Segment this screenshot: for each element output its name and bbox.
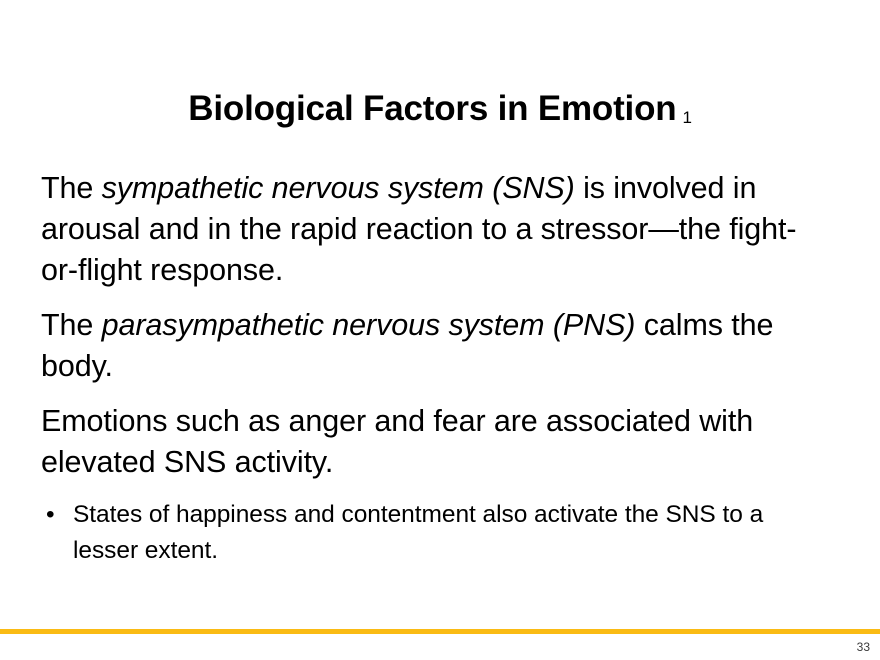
- footer-divider: [0, 629, 880, 634]
- paragraph-pns-lead: The: [41, 308, 102, 342]
- paragraph-pns-emphasis: parasympathetic nervous system (PNS): [102, 308, 636, 342]
- page-title: Biological Factors in Emotion1: [0, 89, 880, 129]
- list-item: •States of happiness and contentment als…: [41, 497, 831, 569]
- paragraph-sns-emphasis: sympathetic nervous system (SNS): [102, 171, 575, 205]
- paragraph-sns: The sympathetic nervous system (SNS) is …: [41, 168, 831, 291]
- paragraph-emotions-lead: Emotions such as anger and fear are asso…: [41, 404, 753, 479]
- slide-body: The sympathetic nervous system (SNS) is …: [41, 168, 831, 569]
- page-number: 33: [857, 640, 870, 654]
- page-title-text: Biological Factors in Emotion: [188, 89, 676, 128]
- slide: Biological Factors in Emotion1 The sympa…: [0, 0, 880, 660]
- paragraph-pns: The parasympathetic nervous system (PNS)…: [41, 305, 831, 387]
- page-title-superscript: 1: [682, 108, 691, 127]
- list-item-text: States of happiness and contentment also…: [73, 501, 763, 564]
- bullet-icon: •: [46, 497, 55, 533]
- paragraph-emotions: Emotions such as anger and fear are asso…: [41, 401, 831, 483]
- paragraph-sns-lead: The: [41, 171, 102, 205]
